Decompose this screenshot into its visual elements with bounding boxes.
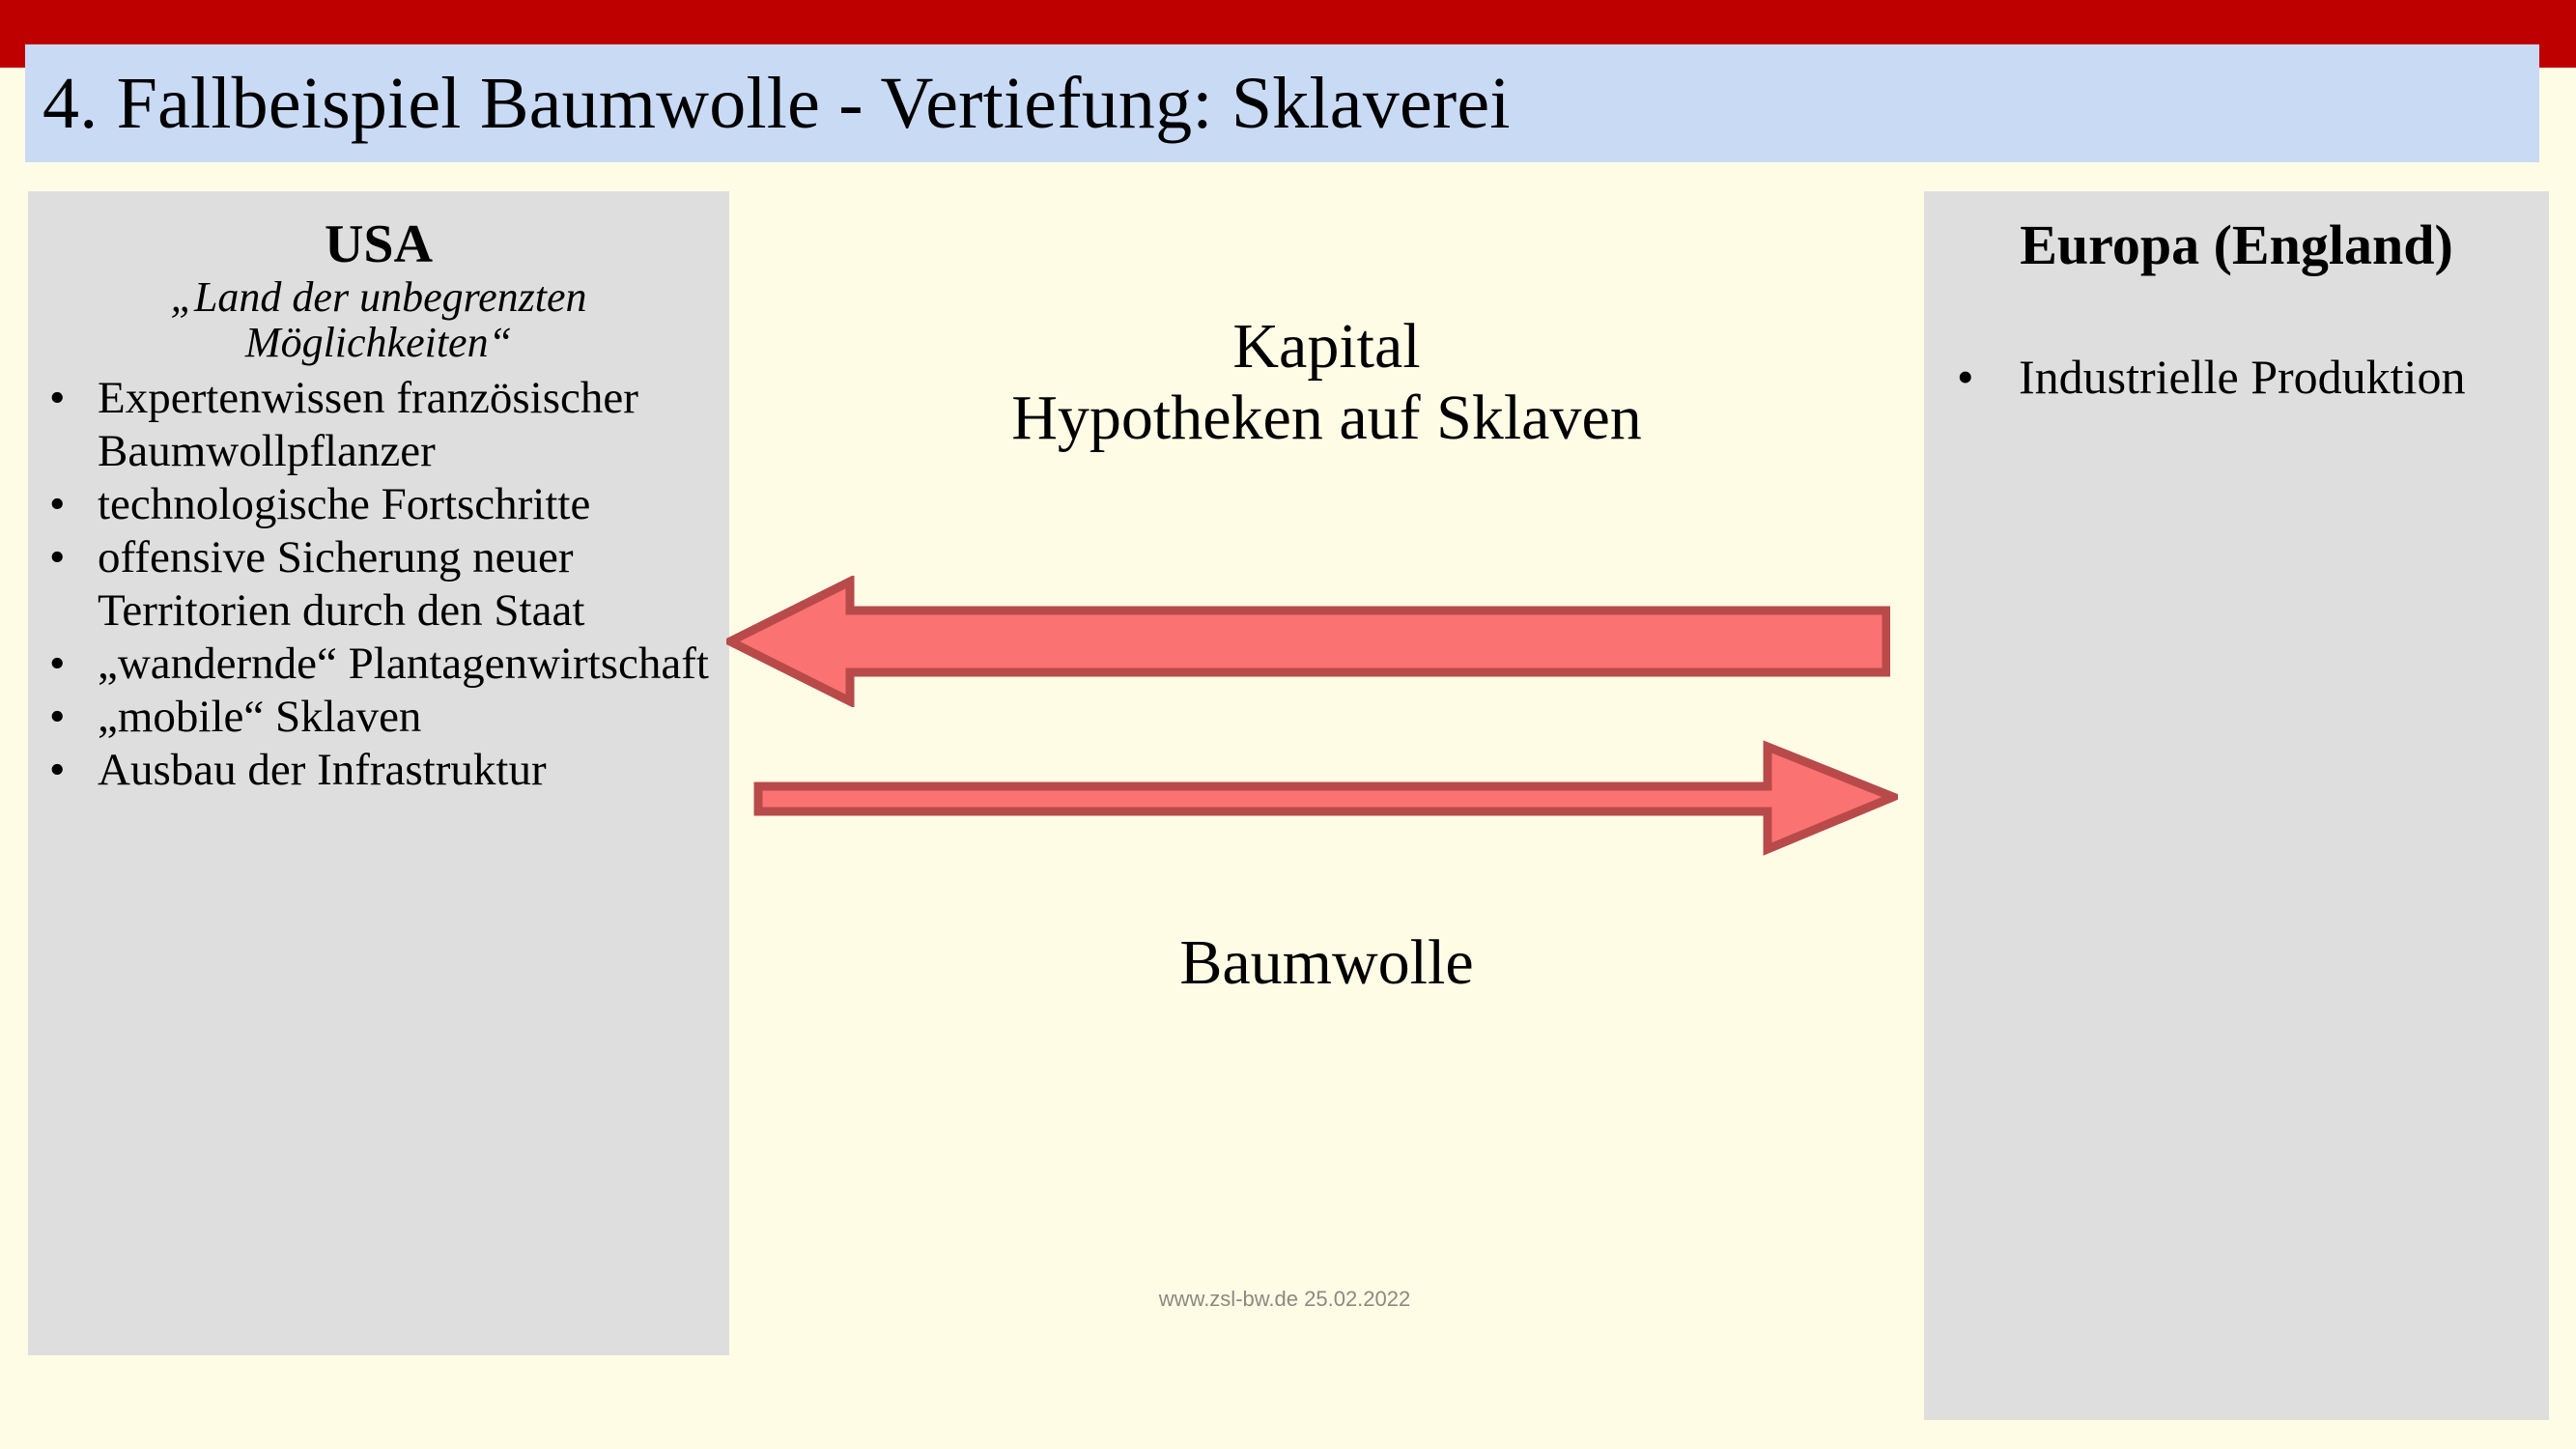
bullet-icon: •	[49, 638, 65, 691]
list-item: • „mobile“ Sklaven	[38, 691, 720, 744]
panel-europa-heading: Europa (England)	[1936, 216, 2537, 274]
center-label-capital-line1: Kapital	[729, 311, 1924, 383]
list-item-label: Industrielle Produktion	[2019, 350, 2465, 404]
bullet-icon: •	[1957, 348, 1974, 407]
slide-canvas: 4. Fallbeispiel Baumwolle - Vertiefung: …	[0, 0, 2576, 1449]
red-accent-right	[2539, 44, 2576, 68]
list-item-label: offensive Sicherung neuer Territorien du…	[98, 532, 584, 636]
list-item-label: „mobile“ Sklaven	[98, 692, 421, 742]
center-label-capital-line2: Hypotheken auf Sklaven	[729, 383, 1924, 454]
center-label-cotton: Baumwolle	[729, 927, 1924, 999]
panel-europa: Europa (England) • Industrielle Produkti…	[1924, 191, 2549, 1420]
panel-usa: USA „Land der unbegrenzten Möglichkeiten…	[28, 191, 729, 1355]
red-accent-left	[0, 44, 26, 68]
list-item: • „wandernde“ Plantagenwirtschaft	[38, 638, 720, 691]
arrow-cotton-to-europe	[753, 723, 1898, 865]
footer-source: www.zsl-bw.de 25.02.2022	[1091, 1287, 1478, 1312]
page-title: 4. Fallbeispiel Baumwolle - Vertiefung: …	[42, 67, 1511, 140]
bullet-icon: •	[49, 744, 65, 797]
list-item: • Ausbau der Infrastruktur	[38, 744, 720, 797]
bullet-icon: •	[49, 531, 65, 584]
panel-usa-bullet-list: • Expertenwissen französischer Baumwollp…	[38, 372, 720, 797]
list-item: • offensive Sicherung neuer Territorien …	[38, 531, 720, 638]
panel-europa-bullet-list: • Industrielle Produktion	[1936, 348, 2537, 407]
arrow-capital-to-usa	[726, 576, 1890, 712]
bullet-icon: •	[49, 372, 65, 425]
list-item-label: Expertenwissen französischer Baumwollpfl…	[98, 373, 638, 476]
list-item-label: „wandernde“ Plantagenwirtschaft	[98, 639, 709, 689]
list-item: • Industrielle Produktion	[1936, 348, 2537, 407]
list-item-label: Ausbau der Infrastruktur	[98, 745, 547, 795]
list-item: • Expertenwissen französischer Baumwollp…	[38, 372, 720, 478]
center-label-capital: Kapital Hypotheken auf Sklaven	[729, 311, 1924, 454]
bullet-icon: •	[49, 478, 65, 531]
list-item-label: technologische Fortschritte	[98, 479, 590, 529]
panel-usa-heading: USA	[38, 216, 720, 272]
slide-title-bar: 4. Fallbeispiel Baumwolle - Vertiefung: …	[25, 44, 2539, 162]
top-red-band	[0, 0, 2576, 44]
bullet-icon: •	[49, 691, 65, 744]
panel-usa-subtitle: „Land der unbegrenzten Möglichkeiten“	[38, 274, 720, 365]
list-item: • technologische Fortschritte	[38, 478, 720, 531]
